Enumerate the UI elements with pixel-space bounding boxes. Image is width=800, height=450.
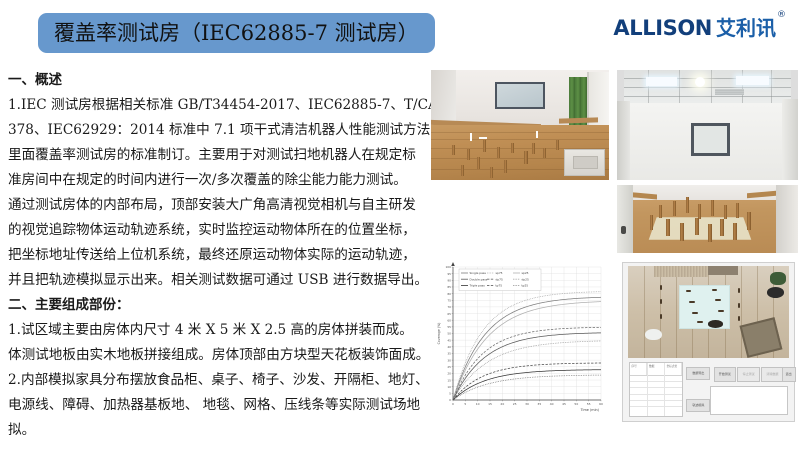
svg-text:25: 25 xyxy=(513,402,517,406)
table-row xyxy=(630,406,683,407)
svg-text:60: 60 xyxy=(447,318,451,322)
white-marker xyxy=(470,133,472,141)
paragraph-line: 1.试区域主要由房体内尺寸 4 米 X 5 米 X 2.5 高的房体拼装而成。 xyxy=(8,318,423,343)
trademark-icon: ® xyxy=(777,11,786,20)
obstacle-peg xyxy=(556,140,559,150)
floor-lamp xyxy=(645,329,661,340)
svg-text:50: 50 xyxy=(447,332,451,336)
table-header: 序号 数据 坐标点位 xyxy=(630,363,683,375)
ceiling-vent xyxy=(715,89,744,96)
floor-box-small xyxy=(573,156,598,169)
table-column-header: 序号 xyxy=(630,363,648,374)
chair xyxy=(767,287,785,298)
stop-test-button[interactable]: 停止测试 xyxy=(737,367,759,382)
svg-text:dp75: dp75 xyxy=(496,277,504,281)
paragraph-line: 体测试地板由实木地板拼接组成。房体顶部由方块型天花板装饰面成。 xyxy=(8,343,423,368)
obstacle-peg xyxy=(736,203,739,218)
svg-text:65: 65 xyxy=(447,312,451,316)
coverage-chart-svg: 0510152025303540455055606570758085909510… xyxy=(431,257,609,429)
svg-text:60: 60 xyxy=(599,402,603,406)
svg-text:Triple pass: Triple pass xyxy=(469,284,486,288)
obstacle-peg xyxy=(511,143,514,153)
svg-text:70: 70 xyxy=(447,305,451,309)
wall-right-edge xyxy=(782,99,798,180)
svg-text:85: 85 xyxy=(447,285,451,289)
svg-text:Coverage (%): Coverage (%) xyxy=(437,323,441,345)
table-row xyxy=(630,400,683,401)
door-jamb-right xyxy=(776,185,798,253)
svg-text:45: 45 xyxy=(562,402,566,406)
export-data-button[interactable]: 数据导出 xyxy=(686,367,710,380)
photo-test-room-interior xyxy=(431,70,609,180)
obstacle-peg xyxy=(686,197,689,213)
slide-header: 覆盖率测试房（IEC62885-7 测试房） ALLISON 艾利讯 ® xyxy=(0,0,800,66)
trajectory-sim-button[interactable]: 轨迹模拟 xyxy=(686,399,710,412)
brand-name-cn: 艾利讯 xyxy=(716,18,776,38)
obstacle-peg xyxy=(673,201,676,216)
svg-text:sp75: sp75 xyxy=(496,271,503,275)
obstacle-peg xyxy=(666,219,670,236)
obstacle-peg xyxy=(738,316,740,321)
svg-text:5: 5 xyxy=(464,402,466,406)
paragraph-line: 准房间中在规定的时间内进行一次/多次覆盖的除尘能力能力测试。 xyxy=(8,168,423,193)
svg-text:45: 45 xyxy=(447,338,451,342)
obstacle-peg xyxy=(504,160,507,173)
obstacle-peg xyxy=(543,148,546,158)
obstacle-peg xyxy=(532,143,535,154)
svg-text:25: 25 xyxy=(447,365,451,369)
paragraph-line: 并且把轨迹模拟显示出来。相关测试数据可通过 USB 进行数据导出。 xyxy=(8,268,423,293)
section-two-heading: 二、主要组成部份： xyxy=(8,293,423,318)
svg-text:95: 95 xyxy=(447,272,451,276)
obstacle-peg xyxy=(461,165,464,176)
photo-ceiling-room xyxy=(617,70,798,180)
obstacle-peg xyxy=(724,205,727,219)
svg-text:35: 35 xyxy=(537,402,541,406)
section-one-heading: 一、概述 xyxy=(8,68,423,93)
brand-name-en: ALLISON xyxy=(613,18,712,39)
table-column-header: 数据 xyxy=(647,363,665,374)
pendant-lamp-icon xyxy=(695,77,705,87)
svg-text:55: 55 xyxy=(447,325,451,329)
paragraph-line: 里面覆盖率测试房的标准制订。主要用于对测试扫地机器人在规定标 xyxy=(8,143,423,168)
paragraph-line: 通过测试房体的内部布局，顶部安装大广角高清视觉相机与自主研发 xyxy=(8,193,423,218)
obstacle-peg xyxy=(680,223,684,241)
paragraph-line: 1.IEC 测试房根据相关标准 GB/T34454-2017、IEC62885-… xyxy=(8,93,423,118)
slide-root: 覆盖率测试房（IEC62885-7 测试房） ALLISON 艾利讯 ® 一、概… xyxy=(0,0,800,450)
svg-text:dp25: dp25 xyxy=(522,277,530,281)
ceiling-slats xyxy=(654,266,709,277)
obstacle-peg xyxy=(452,145,455,155)
exit-button[interactable]: 退出 xyxy=(782,367,796,382)
svg-text:35: 35 xyxy=(447,352,451,356)
obstacle-peg xyxy=(483,140,486,152)
svg-text:30: 30 xyxy=(525,402,529,406)
svg-text:100: 100 xyxy=(445,265,451,269)
obstacle-peg xyxy=(698,204,701,219)
obstacle-peg xyxy=(695,218,699,235)
body-text-column: 一、概述 1.IEC 测试房根据相关标准 GB/T34454-2017、IEC6… xyxy=(8,68,423,440)
white-marker xyxy=(479,137,487,139)
obstacle-peg xyxy=(738,303,740,308)
obstacle-peg xyxy=(659,205,662,218)
svg-text:80: 80 xyxy=(447,292,451,296)
title-banner: 覆盖率测试房（IEC62885-7 测试房） xyxy=(38,13,435,53)
obstacle-peg xyxy=(689,301,695,303)
door-handle-icon xyxy=(621,226,626,234)
photo-software-ui: 序号 数据 坐标点位 数据导出 轨迹模拟 开始测试 停止测试 清除数据 退出 xyxy=(617,257,798,429)
svg-text:55: 55 xyxy=(587,402,591,406)
paragraph-line: 378、IEC62929：2014 标准中 7.1 项干式清洁机器人性能测试方法 xyxy=(8,118,423,143)
clear-data-button[interactable]: 清除数据 xyxy=(761,367,783,382)
svg-text:20: 20 xyxy=(447,372,451,376)
log-output-area[interactable] xyxy=(710,386,789,415)
furniture-frame xyxy=(740,317,783,358)
page-title: 覆盖率测试房（IEC62885-7 测试房） xyxy=(54,23,419,44)
ceiling-light-panel xyxy=(736,76,769,86)
paragraph-line: 的视觉追踪物体运动轨迹系统，实时监控运动物体所在的位置坐标， xyxy=(8,218,423,243)
overhead-camera-view xyxy=(628,266,790,358)
svg-text:20: 20 xyxy=(500,402,504,406)
svg-text:90: 90 xyxy=(447,279,451,283)
paragraph-line: 拟。 xyxy=(8,418,423,443)
obstacle-peg xyxy=(490,167,493,178)
ceiling-light-panel xyxy=(646,77,677,87)
obstacle-peg xyxy=(712,289,717,291)
obstacle-peg xyxy=(686,290,691,292)
obstacle-peg xyxy=(660,314,662,319)
obstacle-peg xyxy=(733,223,737,240)
svg-text:Time (min): Time (min) xyxy=(580,408,600,412)
wall-window xyxy=(495,82,545,109)
data-table[interactable]: 序号 数据 坐标点位 xyxy=(629,362,684,416)
obstacle-peg xyxy=(747,212,751,230)
svg-text:0: 0 xyxy=(449,398,451,402)
svg-text:tp25: tp25 xyxy=(522,284,529,288)
svg-text:40: 40 xyxy=(447,345,451,349)
wall-mounted-frame xyxy=(691,123,730,157)
plant xyxy=(770,272,786,285)
table-row xyxy=(630,387,683,388)
obstacle-peg xyxy=(660,285,662,290)
paragraph-line: 把坐标地址传送给上位机系统，最终还原运动物体实际的运动轨迹， xyxy=(8,243,423,268)
table-row xyxy=(630,381,683,382)
photo-doorway-view xyxy=(617,185,798,253)
wall-left-edge xyxy=(617,101,630,180)
start-test-button[interactable]: 开始测试 xyxy=(714,367,736,382)
obstacle-peg xyxy=(711,200,714,216)
coverage-chart: 0510152025303540455055606570758085909510… xyxy=(431,257,609,429)
svg-text:30: 30 xyxy=(447,358,451,362)
brand-logo: ALLISON 艾利讯 ® xyxy=(613,18,786,39)
paragraph-line: 2.内部模拟家具分布摆放食品柜、桌子、椅子、沙发、开隔柜、地灯、 xyxy=(8,368,423,393)
svg-text:5: 5 xyxy=(449,392,451,396)
svg-text:40: 40 xyxy=(550,402,554,406)
svg-text:Single pass: Single pass xyxy=(470,271,487,275)
obstacle-peg xyxy=(467,149,470,160)
obstacle-peg xyxy=(524,151,528,164)
obstacle-peg xyxy=(477,157,480,169)
svg-text:75: 75 xyxy=(447,298,451,302)
door-jamb-left xyxy=(617,185,633,253)
obstacle-peg xyxy=(738,288,740,293)
svg-text:15: 15 xyxy=(447,378,451,382)
obstacle-peg xyxy=(660,299,662,304)
obstacle-peg xyxy=(692,312,698,314)
paragraph-line: 电源线、障碍、加热器基板地、 地毯、网格、压线条等实际测试场地 xyxy=(8,393,423,418)
svg-text:10: 10 xyxy=(476,402,480,406)
svg-text:tp75: tp75 xyxy=(496,284,503,288)
robot-vacuum xyxy=(708,320,723,327)
table-row xyxy=(630,394,683,395)
svg-text:sp25: sp25 xyxy=(522,271,529,275)
svg-text:10: 10 xyxy=(447,385,451,389)
svg-text:15: 15 xyxy=(488,402,492,406)
software-window: 序号 数据 坐标点位 数据导出 轨迹模拟 开始测试 停止测试 清除数据 退出 xyxy=(622,262,794,422)
svg-text:50: 50 xyxy=(574,402,578,406)
obstacle-peg xyxy=(720,219,724,236)
svg-text:0: 0 xyxy=(452,402,454,406)
svg-text:Double pass: Double pass xyxy=(470,277,488,281)
obstacle-peg xyxy=(650,215,653,230)
obstacle-peg xyxy=(708,224,712,242)
white-marker xyxy=(536,131,538,138)
table-column-header: 坐标点位 xyxy=(665,363,683,374)
obstacle-peg xyxy=(497,147,500,158)
